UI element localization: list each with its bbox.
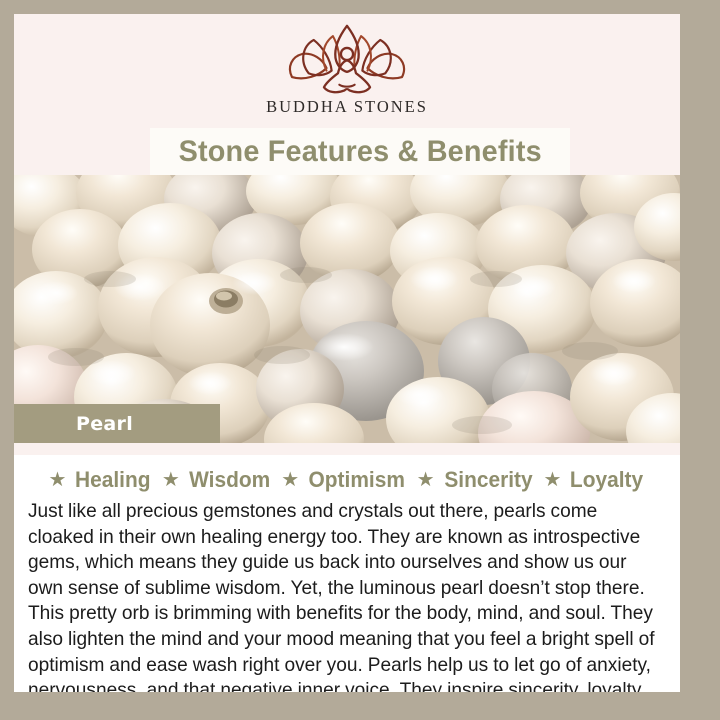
benefit-keyword-label: Sincerity <box>444 467 532 493</box>
benefit-keyword: ★ Sincerity <box>417 467 535 493</box>
benefit-keyword: ★ Wisdom <box>162 467 272 493</box>
benefit-keyword-label: Loyalty <box>570 467 643 493</box>
benefit-keyword: ★ Healing <box>49 467 153 493</box>
pearl-pile-photo <box>14 175 680 443</box>
star-icon: ★ <box>49 470 67 490</box>
star-icon: ★ <box>544 470 562 490</box>
stone-name: Pearl <box>76 413 133 435</box>
content-card: BUDDHA STONES Stone Features & Benefits <box>14 14 680 692</box>
brand-header: BUDDHA STONES <box>14 14 680 128</box>
section-title-banner: Stone Features & Benefits <box>150 128 570 176</box>
benefit-keyword-label: Optimism <box>309 467 405 493</box>
stone-description: Just like all precious gemstones and cry… <box>28 499 656 692</box>
benefit-keyword-label: Wisdom <box>189 467 270 493</box>
star-icon: ★ <box>162 470 180 490</box>
star-icon: ★ <box>417 470 435 490</box>
description-panel: ★ Healing ★ Wisdom ★ Optimism ★ Sincerit… <box>14 455 680 692</box>
star-icon: ★ <box>281 470 299 490</box>
benefit-keyword-label: Healing <box>75 467 150 493</box>
page-title: Stone Features & Benefits <box>178 135 541 169</box>
lotus-meditation-icon <box>283 22 411 96</box>
benefit-keyword: ★ Loyalty <box>544 467 646 493</box>
stone-name-bar: Pearl <box>14 404 220 443</box>
benefit-keyword: ★ Optimism <box>281 467 407 493</box>
benefit-keyword-list: ★ Healing ★ Wisdom ★ Optimism ★ Sincerit… <box>28 465 666 495</box>
brand-name: BUDDHA STONES <box>266 97 428 117</box>
infographic-page: BUDDHA STONES Stone Features & Benefits <box>0 0 720 720</box>
